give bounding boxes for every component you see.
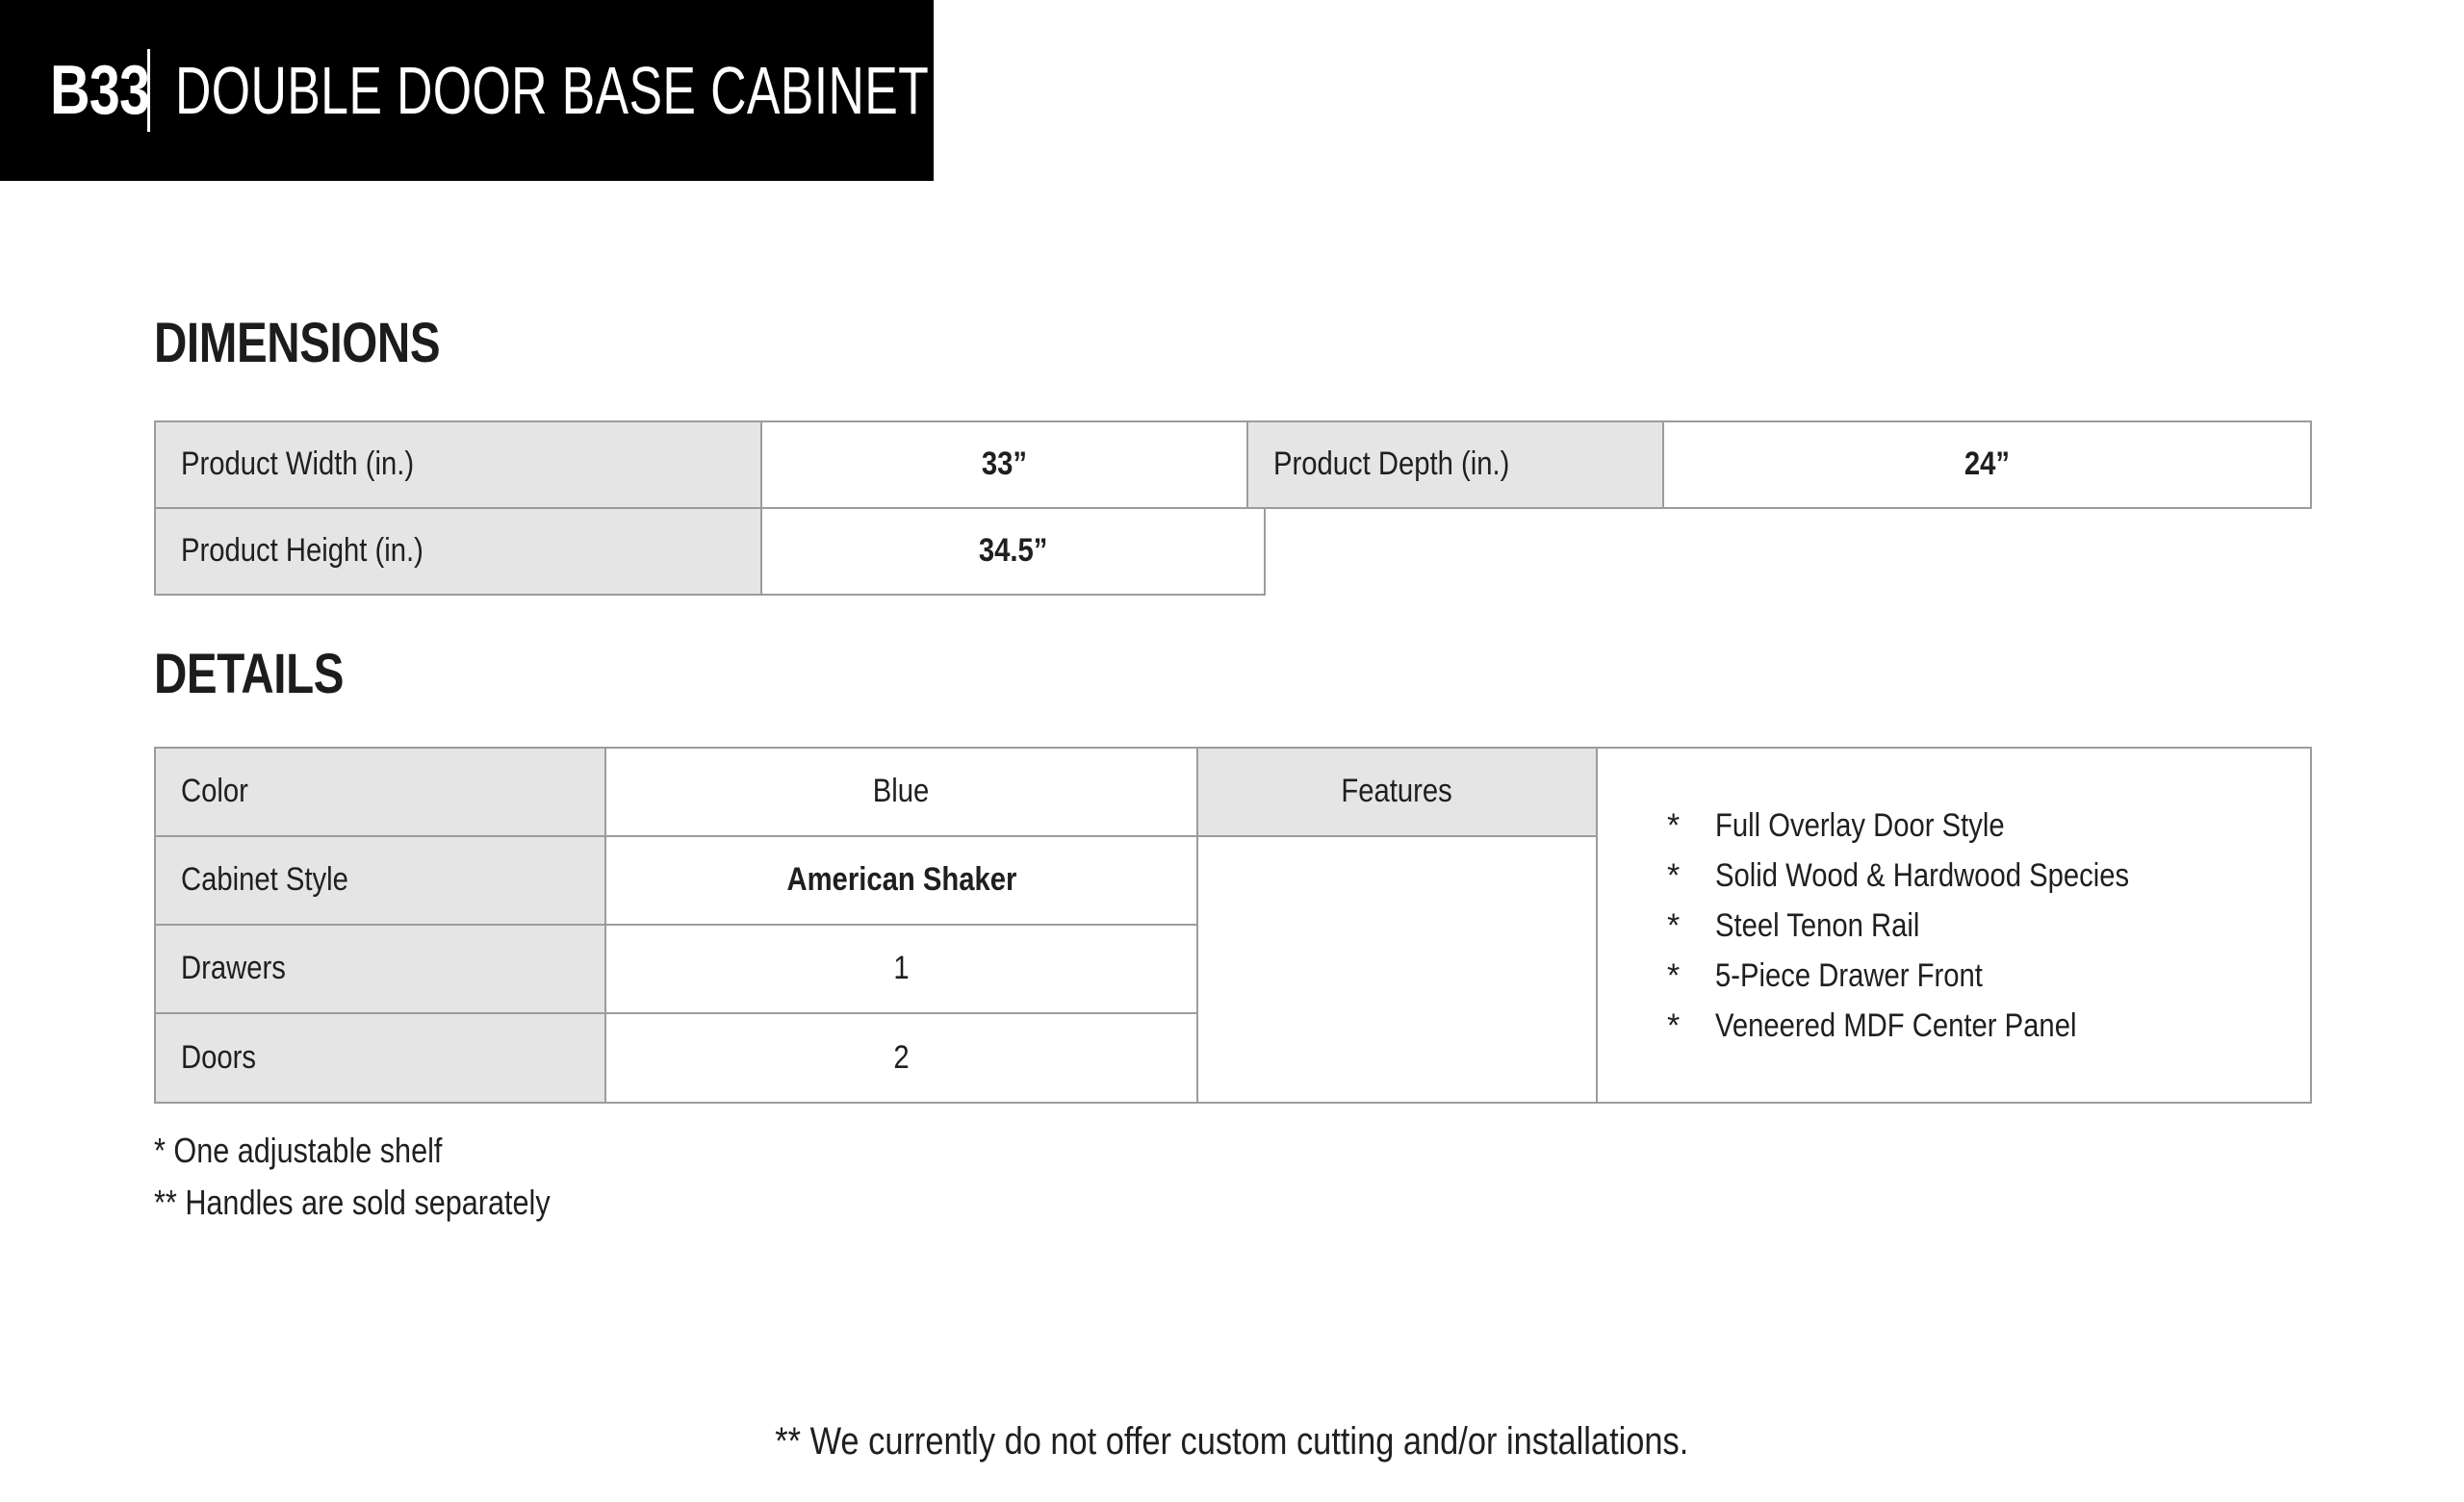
detail-label-cabinet-style: Cabinet Style bbox=[154, 835, 606, 926]
feature-bullet-icon: * bbox=[1667, 859, 1715, 892]
detail-label-features: Features bbox=[1196, 747, 1598, 837]
dimensions-section-heading: DIMENSIONS bbox=[154, 316, 440, 371]
feature-bullet-icon: * bbox=[1667, 959, 1715, 992]
feature-item: * Solid Wood & Hardwood Species bbox=[1667, 859, 2310, 892]
feature-item: * Steel Tenon Rail bbox=[1667, 909, 2310, 942]
details-section-heading: DETAILS bbox=[154, 647, 344, 702]
custom-cutting-disclaimer: ** We currently do not offer custom cutt… bbox=[0, 1422, 2464, 1461]
product-title: DOUBLE DOOR BASE CABINET bbox=[175, 57, 929, 124]
detail-label-color: Color bbox=[154, 747, 606, 837]
dimension-label-product-height: Product Height (in.) bbox=[154, 507, 762, 596]
dimension-label-product-width: Product Width (in.) bbox=[154, 420, 762, 509]
product-header-bar: B33 DOUBLE DOOR BASE CABINET bbox=[0, 0, 934, 181]
detail-value-drawers: 1 bbox=[604, 924, 1198, 1014]
feature-bullet-icon: * bbox=[1667, 1009, 1715, 1042]
detail-label-drawers: Drawers bbox=[154, 924, 606, 1014]
features-empty-cell bbox=[1196, 835, 1598, 1104]
dimension-value-product-height: 34.5” bbox=[760, 507, 1266, 596]
feature-item: * 5-Piece Drawer Front bbox=[1667, 959, 2310, 992]
dimension-value-product-depth: 24” bbox=[1662, 420, 2312, 509]
feature-bullet-icon: * bbox=[1667, 909, 1715, 942]
detail-value-doors: 2 bbox=[604, 1012, 1198, 1104]
feature-bullet-icon: * bbox=[1667, 809, 1715, 842]
features-list: * Full Overlay Door Style * Solid Wood &… bbox=[1596, 747, 2312, 1104]
footnotes: * One adjustable shelf ** Handles are so… bbox=[154, 1133, 620, 1237]
feature-item: * Veneered MDF Center Panel bbox=[1667, 1009, 2310, 1042]
footnote-adjustable-shelf: * One adjustable shelf bbox=[154, 1133, 620, 1168]
dimension-value-product-width: 33” bbox=[760, 420, 1248, 509]
dimension-label-product-depth: Product Depth (in.) bbox=[1246, 420, 1664, 509]
detail-value-cabinet-style: American Shaker bbox=[604, 835, 1198, 926]
detail-label-doors: Doors bbox=[154, 1012, 606, 1104]
detail-value-color: Blue bbox=[604, 747, 1198, 837]
product-code: B33 bbox=[50, 56, 149, 125]
footnote-handles-separate: ** Handles are sold separately bbox=[154, 1185, 620, 1220]
feature-item: * Full Overlay Door Style bbox=[1667, 809, 2310, 842]
